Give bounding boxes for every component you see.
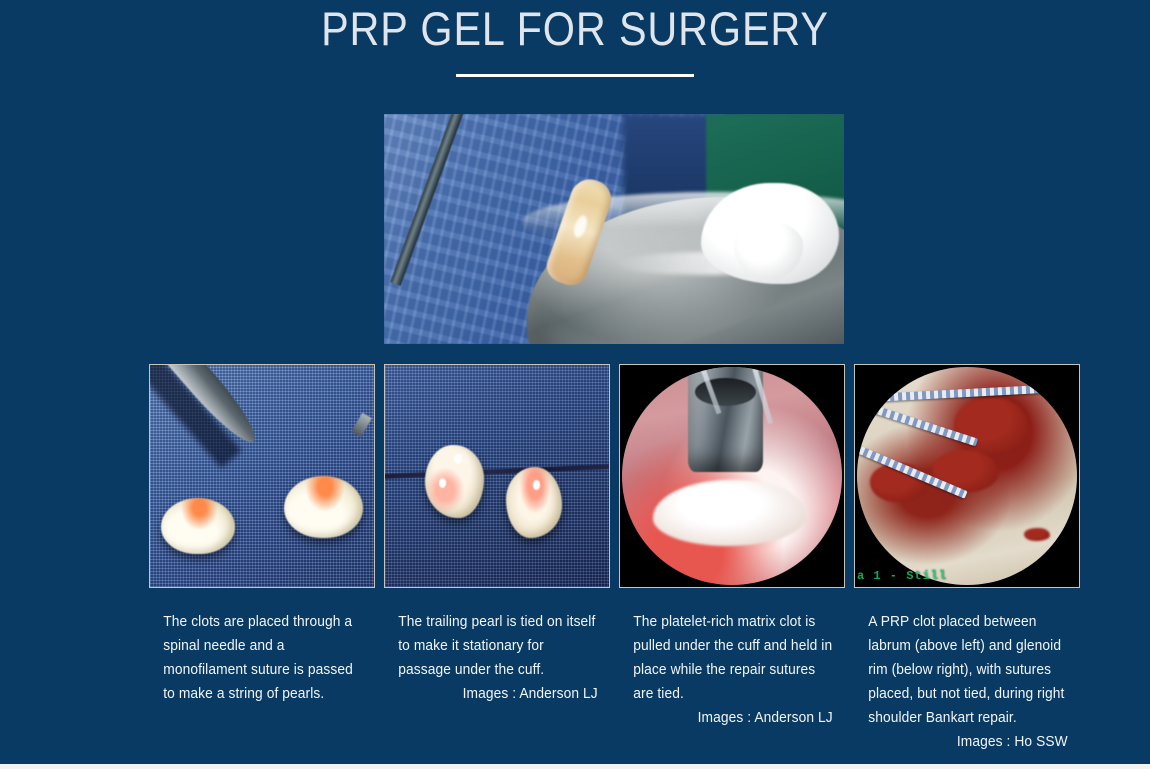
panel-1-image bbox=[149, 364, 375, 588]
blood-clot bbox=[954, 398, 1029, 455]
panel-2-credit: Images : Anderson LJ bbox=[398, 682, 599, 706]
title-block: PRP GEL FOR SURGERY bbox=[0, 0, 1150, 77]
panel-2-image bbox=[384, 364, 610, 588]
panel-2-caption-text: The trailing pearl is tied on itself to … bbox=[398, 614, 595, 678]
panel-4-credit: Images : Ho SSW bbox=[868, 730, 1069, 754]
specular-highlight bbox=[454, 454, 462, 464]
clot-pearl bbox=[161, 498, 235, 554]
scope-overlay-text: a 1 - Still bbox=[857, 569, 947, 583]
panel-4-caption: A PRP clot placed between labrum (above … bbox=[854, 610, 1070, 754]
panel-3-caption: The platelet-rich matrix clot is pulled … bbox=[619, 610, 835, 730]
panel-2-scene bbox=[385, 365, 609, 587]
clot-pearl bbox=[506, 467, 562, 538]
blood-clot bbox=[1024, 528, 1050, 541]
clot-pearl bbox=[284, 476, 362, 538]
arthroscope-view bbox=[857, 367, 1077, 585]
panel-2: The trailing pearl is tied on itself to … bbox=[384, 364, 610, 754]
panel-3-caption-text: The platelet-rich matrix clot is pulled … bbox=[633, 614, 832, 702]
panel-2-caption: The trailing pearl is tied on itself to … bbox=[384, 610, 600, 706]
panel-1-caption: The clots are placed through a spinal ne… bbox=[149, 610, 365, 706]
platelet-rich-clot bbox=[653, 480, 807, 545]
hero-scene bbox=[384, 114, 844, 344]
arthroscope-view bbox=[622, 367, 842, 585]
panel-4-caption-text: A PRP clot placed between labrum (above … bbox=[868, 614, 1064, 726]
title-divider bbox=[456, 74, 694, 77]
panel-3-image bbox=[619, 364, 845, 588]
panel-4-image: a 1 - Still bbox=[854, 364, 1080, 588]
braided-suture bbox=[870, 384, 1063, 402]
panel-1: The clots are placed through a spinal ne… bbox=[149, 364, 375, 754]
hero-image bbox=[384, 114, 844, 344]
page-title: PRP GEL FOR SURGERY bbox=[69, 0, 1081, 53]
panel-4-scene: a 1 - Still bbox=[855, 365, 1079, 587]
panel-1-scene bbox=[150, 365, 374, 587]
panel-4: a 1 - Still A PRP clot placed between la… bbox=[854, 364, 1080, 754]
panel-row: The clots are placed through a spinal ne… bbox=[149, 364, 1078, 754]
panel-3: The platelet-rich matrix clot is pulled … bbox=[619, 364, 845, 754]
panel-3-scene bbox=[620, 365, 844, 587]
panel-3-credit: Images : Anderson LJ bbox=[633, 706, 834, 730]
slide-root: PRP GEL FOR SURGERY bbox=[0, 0, 1150, 769]
